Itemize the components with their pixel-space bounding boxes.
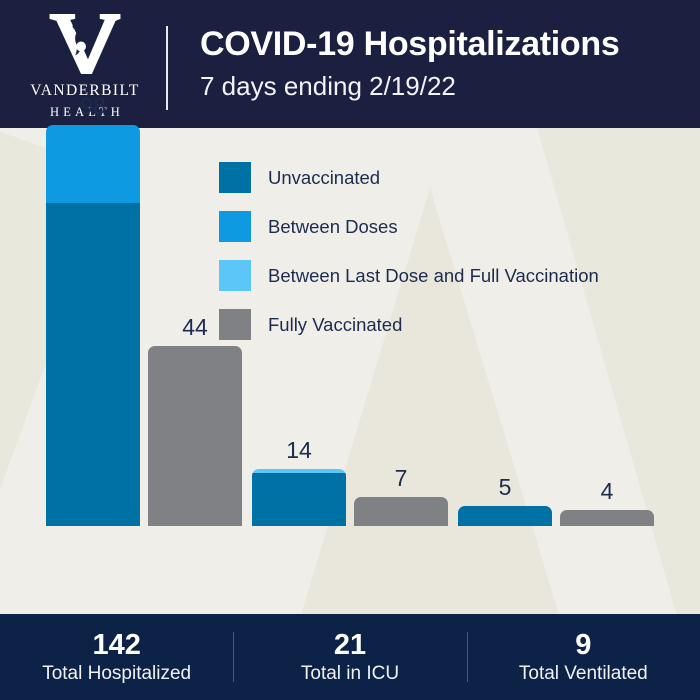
chart-legend: UnvaccinatedBetween DosesBetween Last Do… [219,162,599,358]
total-stat-value: 142 [92,629,140,661]
total-stat-label: Total in ICU [301,662,399,686]
bar-group-icu-vaccinated: 7 [354,457,448,526]
page-title: COVID-19 Hospitalizations [200,22,690,66]
bar-segment [46,203,140,526]
bar-segment [354,497,448,526]
legend-swatch-icon [219,162,251,193]
vanderbilt-v-oakleaf-icon [48,12,122,77]
page-subtitle: 7 days ending 2/19/22 [200,68,690,104]
legend-item-1[interactable]: Between Doses [219,211,599,242]
bar-icu-unvaccinated[interactable] [252,469,346,526]
legend-swatch-icon [219,309,251,340]
footer-divider [233,632,234,682]
total-stat-value: 21 [334,629,366,661]
bar-value-label: 5 [458,474,552,501]
bar-value-label: 4 [560,478,654,505]
bar-group-icu-unvaccinated: 14 [252,429,346,526]
bar-value-label: 98 [46,93,140,120]
total-stat-1: 21Total in ICU [233,614,466,700]
header-divider [166,26,168,110]
bar-value-label: 7 [354,465,448,492]
legend-item-2[interactable]: Between Last Dose and Full Vaccination [219,260,599,291]
total-stat-0: 142Total Hospitalized [0,614,233,700]
legend-swatch-icon [219,260,251,291]
footer-divider [467,632,468,682]
legend-item-label: Between Doses [268,216,398,238]
bar-segment [252,473,346,526]
bar-icu-vaccinated[interactable] [354,497,448,526]
bar-segment [46,125,140,203]
total-stat-value: 9 [575,629,591,661]
header-text-block: COVID-19 Hospitalizations 7 days ending … [200,22,690,104]
bar-group-hospitalized-unvaccinated: 98 [46,85,140,526]
legend-swatch-icon [219,211,251,242]
totals-footer: 142Total Hospitalized21Total in ICU9Tota… [0,614,700,700]
bar-hospitalized-unvaccinated[interactable] [46,125,140,526]
covid-hospitalizations-infographic: VANDERBILT HEALTH COVID-19 Hospitalizati… [0,0,700,700]
bar-ventilated-unvaccinated[interactable] [458,506,552,526]
bar-ventilated-vaccinated[interactable] [560,510,654,526]
bar-value-label: 14 [252,437,346,464]
bar-group-ventilated-vaccinated: 4 [560,470,654,526]
bar-segment [458,506,552,526]
bar-group-ventilated-unvaccinated: 5 [458,466,552,526]
total-stat-label: Total Hospitalized [42,662,191,686]
bar-segment [560,510,654,526]
total-stat-label: Total Ventilated [519,662,648,686]
legend-item-3[interactable]: Fully Vaccinated [219,309,599,340]
legend-item-label: Fully Vaccinated [268,314,402,336]
legend-item-label: Unvaccinated [268,167,380,189]
bar-hospitalized-vaccinated[interactable] [148,346,242,526]
bar-segment [148,346,242,526]
legend-item-0[interactable]: Unvaccinated [219,162,599,193]
legend-item-label: Between Last Dose and Full Vaccination [268,265,599,287]
total-stat-2: 9Total Ventilated [467,614,700,700]
